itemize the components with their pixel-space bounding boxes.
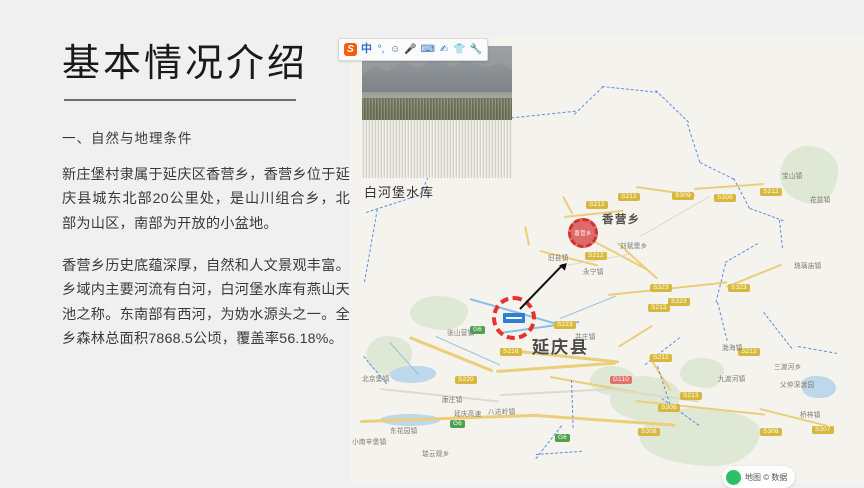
road-shield: S223 (554, 321, 576, 329)
admin-boundary (602, 86, 658, 93)
reservoir-photo (362, 46, 512, 178)
place-label: 八达岭镇 (488, 406, 516, 416)
place-label: 东花园镇 (390, 425, 418, 435)
road-shield: S212 (650, 354, 672, 362)
chinese-mode-icon[interactable]: 中 (361, 44, 372, 55)
handwriting-icon[interactable]: ✍ (439, 45, 449, 55)
place-label: 琉璃庙镇 (794, 260, 822, 270)
admin-boundary (700, 162, 735, 180)
place-label: 延庆高速 (454, 408, 482, 418)
road-shield: S323 (728, 284, 750, 292)
toolbox-icon[interactable]: 🔧 (470, 45, 482, 55)
punctuation-icon[interactable]: °, (376, 45, 386, 55)
admin-boundary (763, 312, 792, 349)
place-label: 三渡河乡 (774, 361, 802, 371)
road-shield: G6 (555, 434, 570, 442)
admin-boundary (733, 178, 750, 208)
place-label: 刘斌堡乡 (620, 240, 648, 250)
body-paragraph-2: 香营乡历史底蕴深厚，自然和人文景观丰富。乡域内主要河流有白河，白河堡水库有燕山天… (62, 254, 350, 352)
road-shield: S213 (680, 392, 702, 400)
admin-boundary (725, 243, 758, 263)
road-shield: S212 (618, 193, 640, 201)
admin-boundary (717, 302, 728, 341)
map-badge-label: 地图 © 数据 (745, 472, 787, 483)
place-label: 香营乡 (602, 211, 641, 227)
road-shield: S220 (455, 376, 477, 384)
place-label: 花盆镇 (810, 194, 831, 204)
road-shield: G6 (450, 420, 465, 428)
emoji-icon[interactable]: ☺ (390, 45, 400, 55)
road-shield: S308 (658, 404, 680, 412)
road-shield: S307 (812, 426, 834, 434)
map-canvas[interactable]: S212S212S212S212S223S216S220G110G6G6G6S3… (350, 36, 864, 484)
road-shield: S212 (585, 252, 607, 260)
text-column: 基本情况介绍 一、自然与地理条件 新庄堡村隶属于延庆区香营乡，香营乡位于延庆县城… (62, 44, 352, 352)
pointer-line (519, 264, 564, 310)
place-label: 瑞云观乡 (422, 448, 450, 458)
road-segment (562, 196, 574, 215)
road-shield: S216 (500, 348, 522, 356)
county-seat-badge (503, 313, 525, 323)
place-label: 康庄镇 (442, 394, 463, 404)
place-label: 北京堡镇 (362, 373, 390, 383)
place-label: 桥梓镇 (800, 409, 821, 419)
road-shield: S309 (672, 192, 694, 200)
road-segment (694, 183, 764, 190)
road-shield: S323 (668, 298, 690, 306)
title-divider (64, 99, 296, 101)
road-shield: S308 (638, 428, 660, 436)
minor-road (640, 196, 710, 237)
xiangying-marker-label: 香营乡 (574, 229, 591, 237)
road-shield: S323 (650, 284, 672, 292)
admin-boundary (571, 380, 574, 428)
map-attribution-badge[interactable]: 地图 © 数据 (722, 466, 795, 488)
photo-inset: 白河堡水库 (362, 46, 512, 178)
photo-caption: 白河堡水库 (364, 182, 434, 201)
terrain-patch (410, 296, 468, 330)
road-shield: S212 (760, 188, 782, 196)
admin-boundary (798, 346, 838, 354)
xiangying-marker[interactable]: 香营乡 (568, 218, 598, 248)
admin-boundary (574, 86, 603, 115)
road-shield: S309 (714, 194, 736, 202)
body-paragraph-1: 新庄堡村隶属于延庆区香营乡，香营乡位于延庆县城东北部20公里处，是山川组合乡，北… (62, 163, 350, 236)
admin-boundary (536, 451, 582, 455)
place-label: 九渡河镇 (718, 373, 746, 383)
admin-boundary (779, 220, 783, 248)
map-logo-icon (726, 470, 741, 485)
minor-road (500, 388, 610, 395)
road-shield: S212 (586, 201, 608, 209)
admin-boundary (364, 209, 378, 282)
admin-boundary (506, 111, 576, 119)
terrain-patch (640, 408, 760, 466)
place-label: 父仲深渡园 (780, 379, 814, 389)
sogou-ime-toolbar[interactable]: S 中 °, ☺ 🎤 ⌨ ✍ 👕 🔧 (338, 38, 488, 61)
road-segment (618, 325, 653, 348)
place-label: 小南辛堡镇 (352, 436, 386, 446)
sogou-logo-icon[interactable]: S (344, 43, 357, 56)
road-shield: G110 (610, 376, 632, 384)
river (560, 296, 616, 320)
place-label: 张山营镇 (447, 327, 475, 337)
place-label: 永宁镇 (583, 266, 604, 276)
presentation-slide: 基本情况介绍 一、自然与地理条件 新庄堡村隶属于延庆区香营乡，香营乡位于延庆县城… (0, 0, 864, 484)
admin-boundary (687, 124, 700, 162)
place-label: 井庄镇 (575, 331, 596, 341)
place-label: 旧县镇 (548, 252, 569, 262)
minor-road (380, 388, 500, 402)
frost-field (362, 120, 512, 178)
road-shield: S212 (648, 304, 670, 312)
road-segment (524, 226, 530, 246)
soft-keyboard-icon[interactable]: ⌨ (421, 45, 435, 55)
page-title: 基本情况介绍 (62, 44, 352, 86)
place-label: 渤海镇 (722, 342, 743, 352)
voice-input-icon[interactable]: 🎤 (404, 45, 416, 55)
section-heading: 一、自然与地理条件 (62, 127, 352, 147)
road-shield: S308 (760, 428, 782, 436)
admin-boundary (655, 90, 689, 123)
skin-icon[interactable]: 👕 (453, 45, 465, 55)
place-label: 宝山镇 (782, 170, 803, 180)
map-panel[interactable]: S212S212S212S212S223S216S220G110G6G6G6S3… (350, 36, 864, 484)
